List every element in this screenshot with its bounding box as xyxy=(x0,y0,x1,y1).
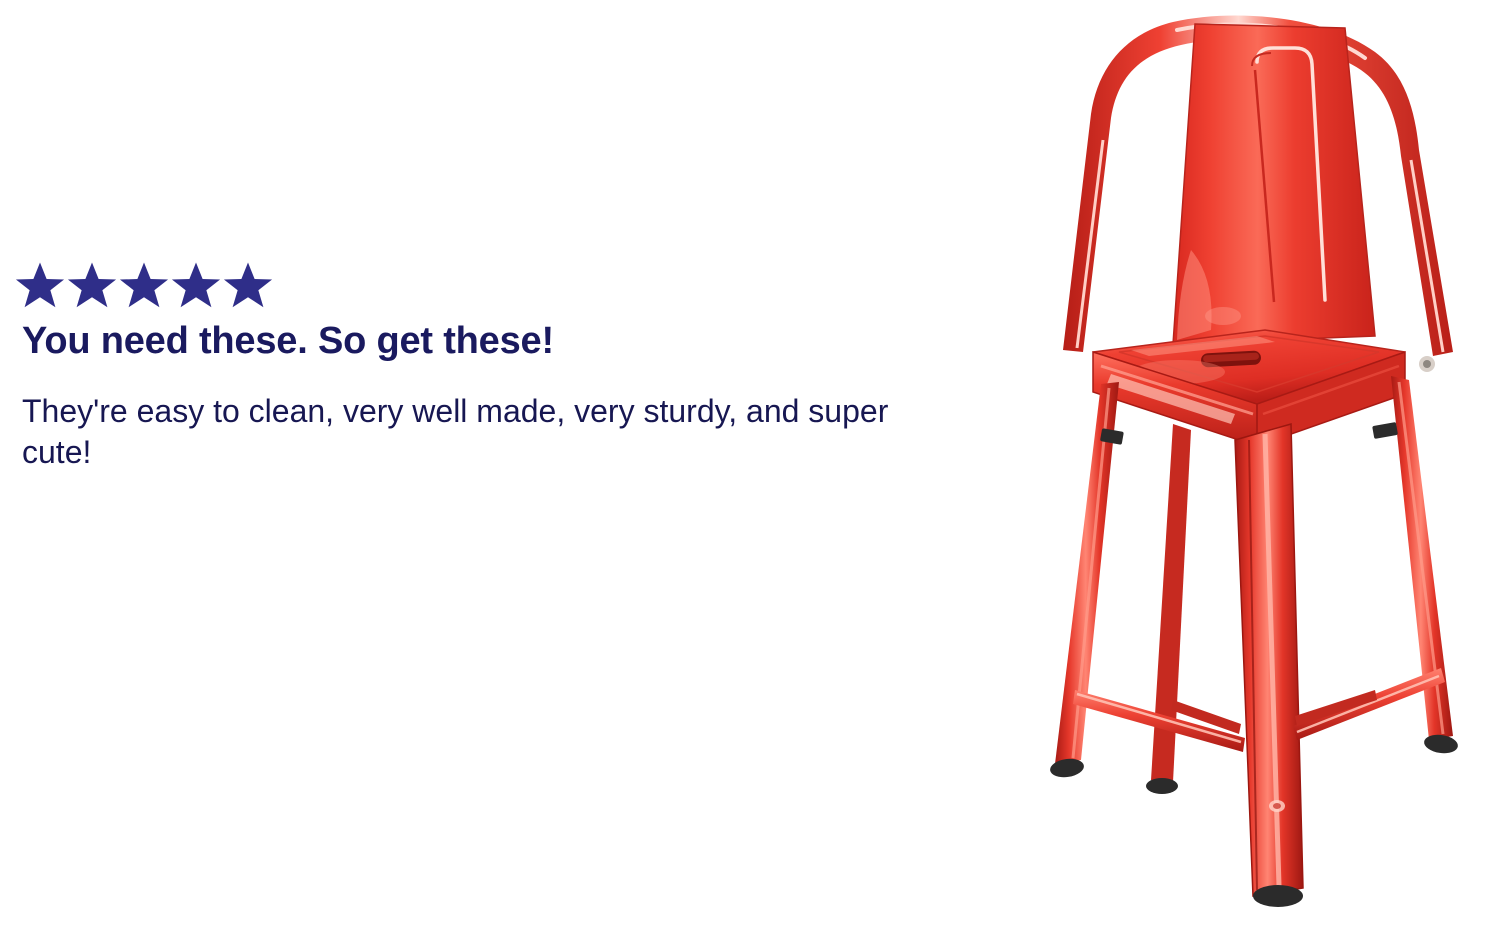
rubber-foot xyxy=(1253,885,1303,907)
backrest-panel xyxy=(1173,24,1375,344)
star-icon xyxy=(168,258,224,314)
review-body-text: They're easy to clean, very well made, v… xyxy=(22,391,952,474)
star-rating xyxy=(12,258,972,314)
star-icon xyxy=(116,258,172,314)
review-headline: You need these. So get these! xyxy=(22,320,972,363)
product-image xyxy=(905,0,1500,948)
review-block: You need these. So get these! They're ea… xyxy=(12,258,972,474)
backrest-bolt xyxy=(1419,356,1435,372)
rubber-foot xyxy=(1146,778,1178,794)
star-icon xyxy=(220,258,276,314)
product-review-banner: You need these. So get these! They're ea… xyxy=(0,0,1500,948)
star-icon xyxy=(64,258,120,314)
star-icon xyxy=(12,258,68,314)
